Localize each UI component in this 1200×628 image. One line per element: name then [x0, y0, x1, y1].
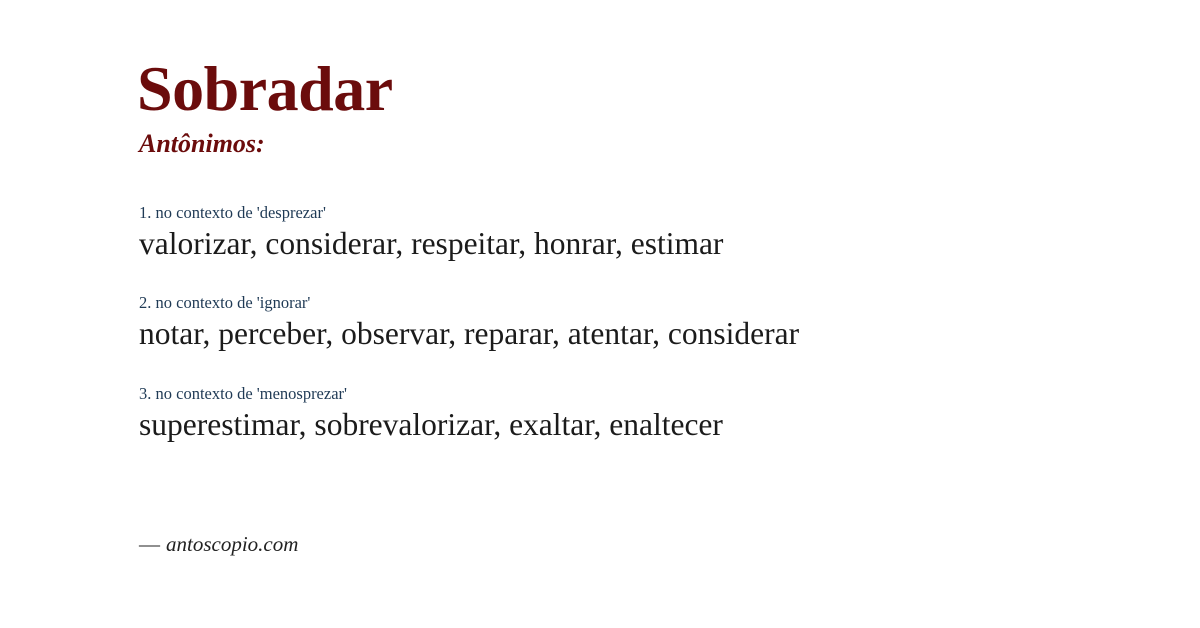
sense-list: 1. no contexto de 'desprezar' valorizar,…	[139, 204, 1149, 444]
sense-context-label: 1. no contexto de 'desprezar'	[139, 204, 1149, 223]
source-domain: antoscopio.com	[166, 532, 298, 556]
sense-antonyms: notar, perceber, observar, reparar, aten…	[139, 315, 1149, 353]
page-title: Sobradar	[137, 57, 393, 121]
section-subtitle: Antônimos:	[139, 131, 265, 157]
list-item: 1. no contexto de 'desprezar' valorizar,…	[139, 204, 1149, 263]
sense-antonyms: valorizar, considerar, respeitar, honrar…	[139, 225, 1149, 263]
sense-context-label: 2. no contexto de 'ignorar'	[139, 294, 1149, 313]
antonyms-card: Sobradar Antônimos: 1. no contexto de 'd…	[0, 0, 1200, 628]
em-dash-icon: —	[139, 532, 166, 556]
sense-antonyms: superestimar, sobrevalorizar, exaltar, e…	[139, 406, 1149, 444]
list-item: 2. no contexto de 'ignorar' notar, perce…	[139, 294, 1149, 353]
list-item: 3. no contexto de 'menosprezar' superest…	[139, 385, 1149, 444]
sense-context-label: 3. no contexto de 'menosprezar'	[139, 385, 1149, 404]
source-attribution: —antoscopio.com	[139, 534, 298, 555]
